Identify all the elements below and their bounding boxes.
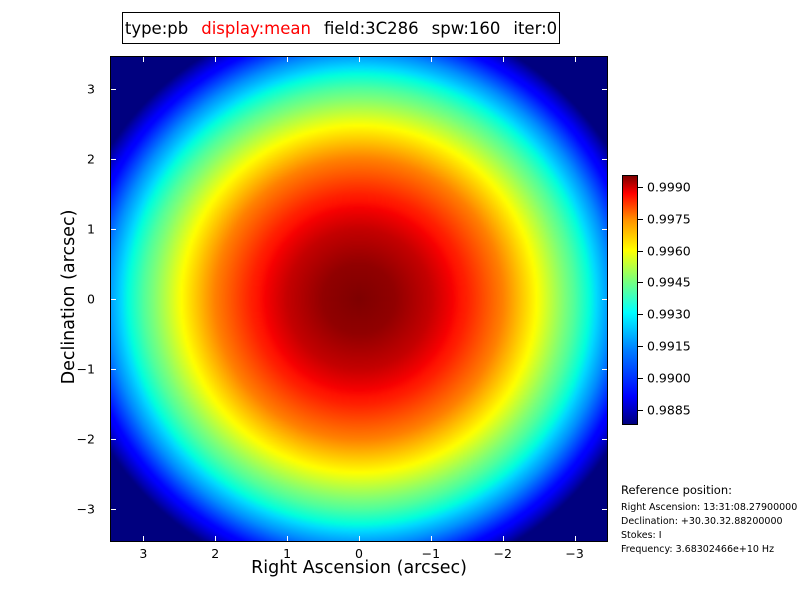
x-tick-mark: [215, 536, 216, 541]
colorbar-tick-label: 0.9900: [647, 371, 691, 386]
title-item-display: display:mean: [201, 19, 311, 38]
reference-declination: Declination: +30.30.32.88200000: [621, 515, 800, 529]
x-tick-label: 3: [139, 546, 147, 561]
y-tick-mark: [602, 229, 607, 230]
y-tick-label: −2: [77, 432, 95, 447]
y-tick-mark: [111, 159, 116, 160]
y-axis-label: Declination (arcsec): [59, 54, 79, 540]
reference-position-block: Reference position: Right Ascension: 13:…: [621, 483, 800, 557]
x-tick-label: −1: [422, 546, 440, 561]
title-item-iter: iter:0: [513, 19, 557, 38]
colorbar-tick-label: 0.9990: [647, 179, 691, 194]
y-tick-label: 0: [87, 292, 95, 307]
colorbar-tick-label: 0.9945: [647, 275, 691, 290]
colorbar-tick-mark: [638, 282, 643, 283]
y-tick-mark: [602, 369, 607, 370]
y-tick-mark: [602, 159, 607, 160]
y-tick-mark: [111, 439, 116, 440]
x-tick-label: 1: [283, 546, 291, 561]
colorbar-tick-label: 0.9915: [647, 339, 691, 354]
y-tick-mark: [111, 229, 116, 230]
reference-right-ascension: Right Ascension: 13:31:08.27900000: [621, 501, 800, 515]
colorbar-tick-label: 0.9960: [647, 243, 691, 258]
x-tick-mark: [359, 536, 360, 541]
colorbar-gradient[interactable]: [622, 175, 638, 425]
x-tick-mark: [287, 57, 288, 62]
colorbar-tick-label: 0.9975: [647, 211, 691, 226]
x-tick-mark: [143, 57, 144, 62]
y-tick-label: −3: [77, 502, 95, 517]
y-tick-label: 3: [87, 81, 95, 96]
colorbar-tick-mark: [638, 314, 643, 315]
x-tick-mark: [287, 536, 288, 541]
colorbar-tick-mark: [638, 251, 643, 252]
title-item-spw: spw:160: [432, 19, 501, 38]
y-tick-mark: [602, 89, 607, 90]
x-tick-mark: [503, 536, 504, 541]
reference-frequency: Frequency: 3.68302466e+10 Hz: [621, 543, 800, 557]
x-tick-label: 2: [211, 546, 219, 561]
colorbar-tick-mark: [638, 410, 643, 411]
plot-title-bar: type:pb display:mean field:3C286 spw:160…: [122, 12, 560, 44]
y-tick-mark: [111, 89, 116, 90]
primary-beam-plot[interactable]: [110, 56, 608, 542]
y-tick-mark: [111, 509, 116, 510]
title-item-field: field:3C286: [324, 19, 419, 38]
y-tick-label: 1: [87, 221, 95, 236]
reference-position-heading: Reference position:: [621, 483, 800, 497]
colorbar-tick-label: 0.9885: [647, 403, 691, 418]
y-tick-mark: [602, 299, 607, 300]
title-item-type: type:pb: [125, 19, 188, 38]
colorbar-tick-mark: [638, 346, 643, 347]
x-tick-mark: [575, 536, 576, 541]
x-tick-mark: [215, 57, 216, 62]
x-tick-label: 0: [355, 546, 363, 561]
x-tick-mark: [431, 536, 432, 541]
colorbar-container[interactable]: 0.99900.99750.99600.99450.99300.99150.99…: [622, 175, 638, 425]
x-tick-mark: [431, 57, 432, 62]
y-tick-mark: [111, 299, 116, 300]
colorbar-tick-label: 0.9930: [647, 307, 691, 322]
x-axis-label: Right Ascension (arcsec): [110, 558, 608, 578]
x-tick-mark: [575, 57, 576, 62]
x-tick-mark: [143, 536, 144, 541]
y-tick-label: 2: [87, 151, 95, 166]
colorbar-tick-mark: [638, 187, 643, 188]
x-tick-mark: [503, 57, 504, 62]
x-tick-mark: [359, 57, 360, 62]
y-tick-label: −1: [77, 362, 95, 377]
y-tick-mark: [602, 439, 607, 440]
x-tick-label: −2: [494, 546, 512, 561]
colorbar-tick-mark: [638, 219, 643, 220]
reference-stokes: Stokes: I: [621, 529, 800, 543]
x-tick-label: −3: [565, 546, 583, 561]
colorbar-tick-mark: [638, 378, 643, 379]
y-tick-mark: [602, 509, 607, 510]
y-tick-mark: [111, 369, 116, 370]
primary-beam-heatmap: [111, 57, 607, 541]
